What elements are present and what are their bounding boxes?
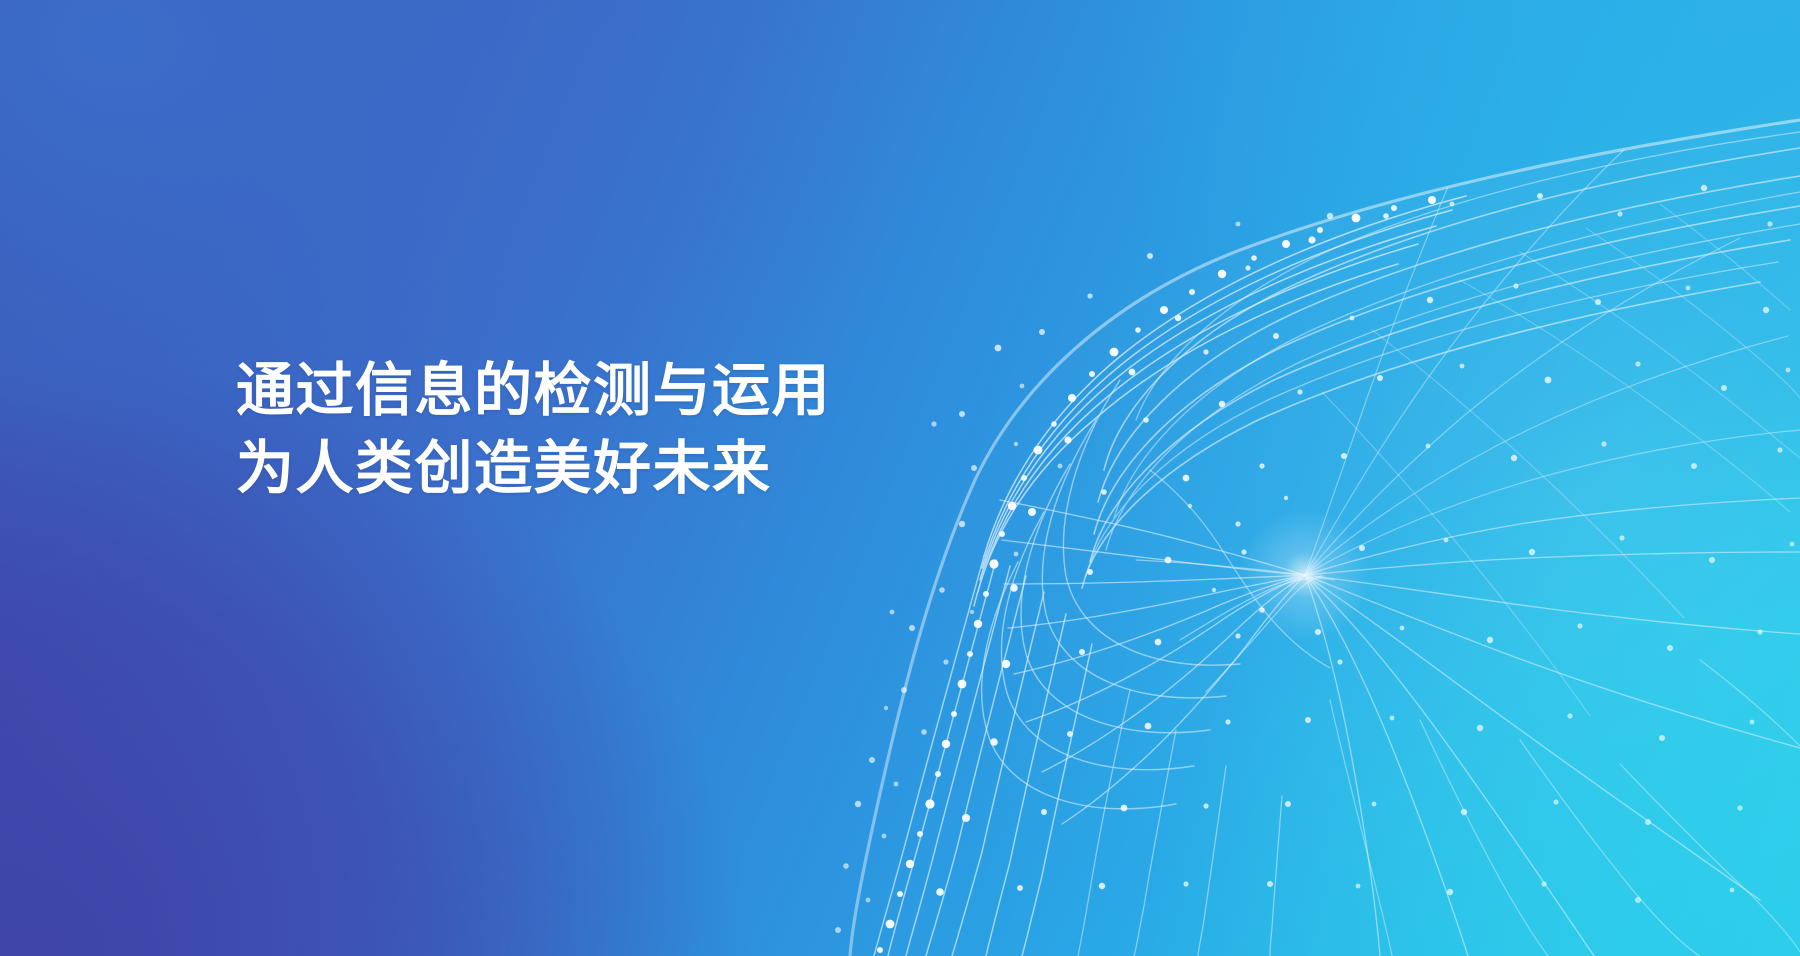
globe-interior xyxy=(830,90,1800,956)
headline-block: 通过信息的检测与运用 为人类创造美好未来 xyxy=(236,352,831,508)
headline-line-2: 为人类创造美好未来 xyxy=(236,430,831,508)
globe-focal-glow xyxy=(1239,509,1371,641)
headline-line-1: 通过信息的检测与运用 xyxy=(236,352,831,430)
hero-banner: 通过信息的检测与运用 为人类创造美好未来 xyxy=(0,0,1800,956)
